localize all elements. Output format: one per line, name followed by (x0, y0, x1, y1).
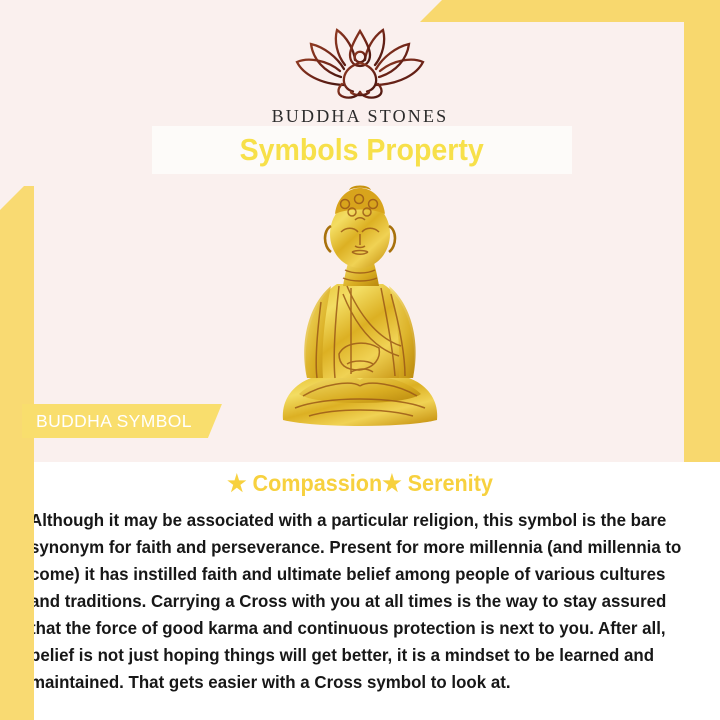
attributes-subtitle: ★ Compassion★ Serenity (50, 470, 670, 497)
poster-root: BUDDHA STONES Symbols Property (0, 0, 720, 720)
buddha-symbol-tag-label: BUDDHA SYMBOL (36, 411, 192, 432)
content-section: ★ Compassion★ Serenity Although it may b… (0, 462, 720, 720)
lotus-meditation-icon (285, 22, 435, 100)
page-title: Symbols Property (240, 132, 484, 168)
buddha-symbol-tag: BUDDHA SYMBOL (22, 404, 222, 438)
golden-buddha-image (255, 182, 465, 430)
brand-logo-block: BUDDHA STONES (0, 22, 720, 127)
brand-name: BUDDHA STONES (272, 106, 449, 127)
decorative-band-top (420, 0, 720, 22)
description-paragraph: Although it may be associated with a par… (30, 507, 689, 696)
title-banner: Symbols Property (152, 126, 572, 174)
decorative-band-left (0, 186, 34, 720)
